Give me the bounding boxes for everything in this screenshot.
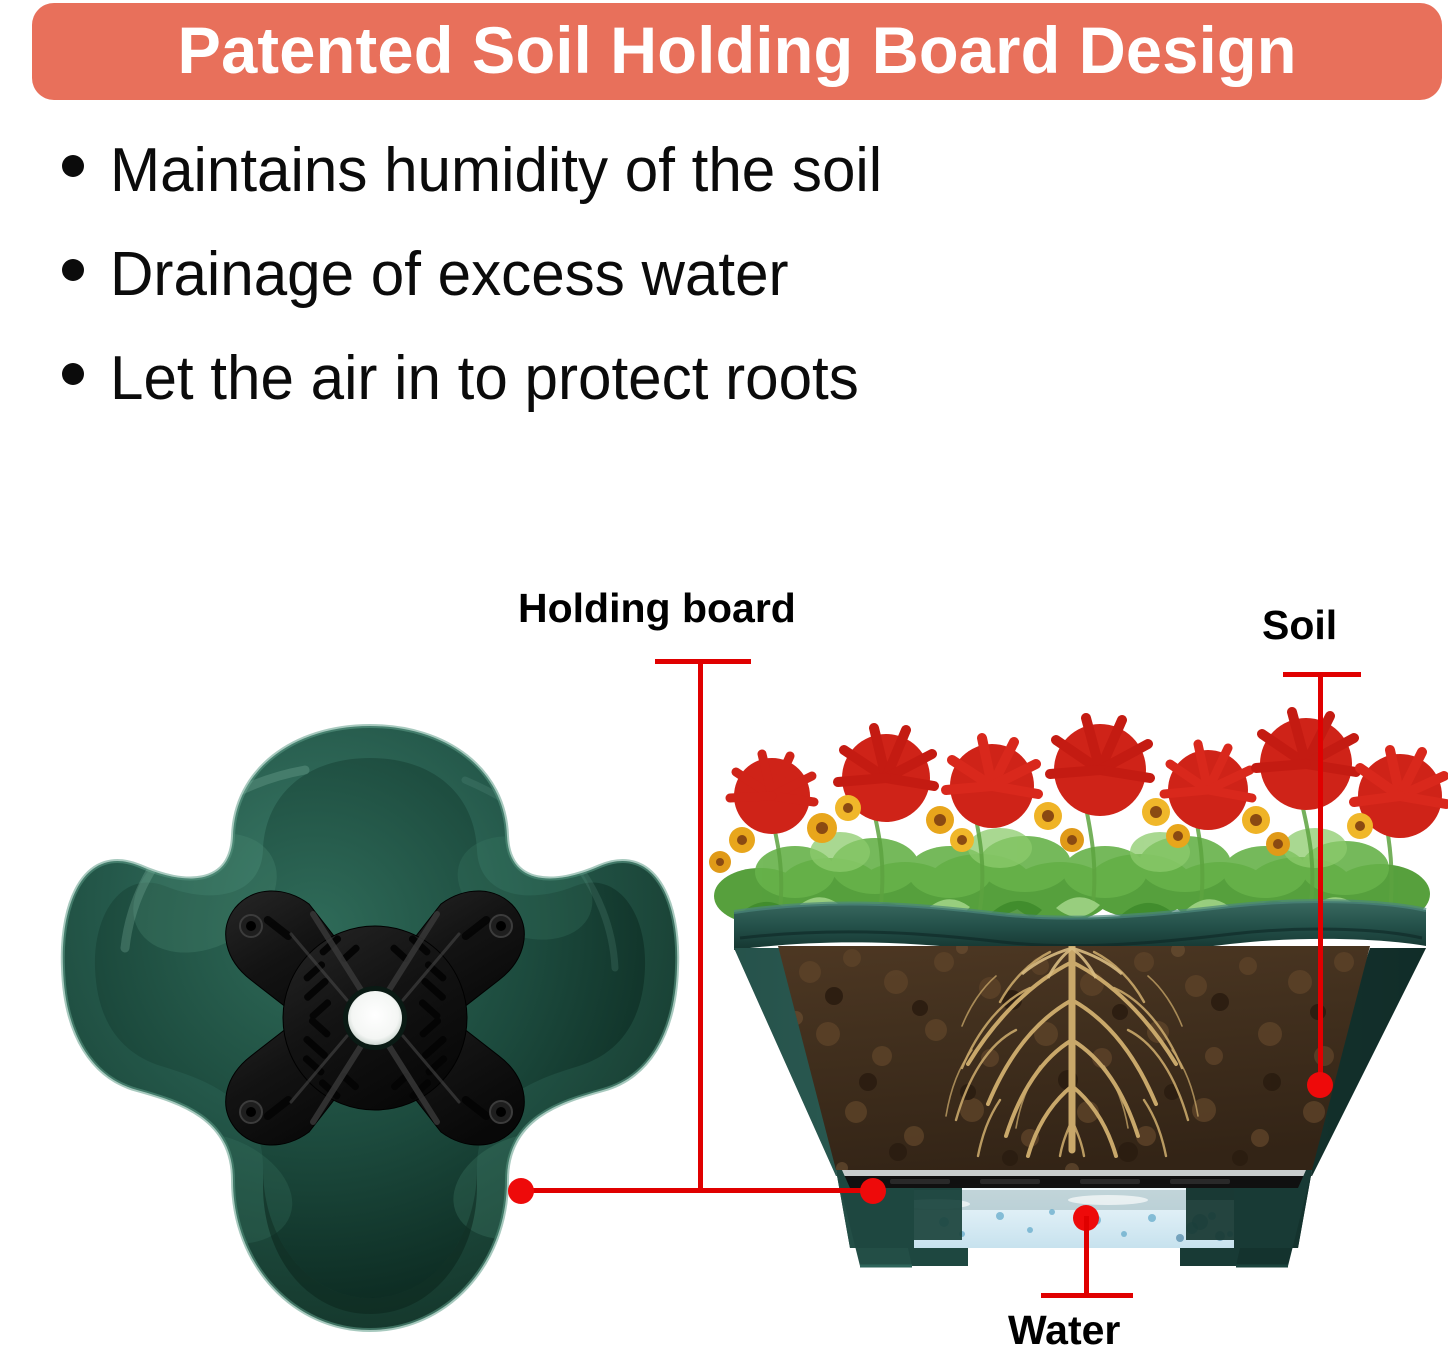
feature-label: Maintains humidity of the soil <box>110 140 882 202</box>
header-banner: Patented Soil Holding Board Design <box>32 3 1442 100</box>
soil-layer <box>770 940 1382 1180</box>
holding-board-leader-tbar <box>655 659 751 664</box>
holding-board-marker-left <box>508 1178 534 1204</box>
feature-list: Maintains humidity of the soil Drainage … <box>0 140 1448 452</box>
infographic-root: Patented Soil Holding Board Design Maint… <box>0 0 1448 1361</box>
bullet-dot-icon <box>62 259 84 281</box>
feature-list-item: Drainage of excess water <box>0 244 1448 348</box>
holding-board-leader-vertical <box>698 659 703 1191</box>
banner-title: Patented Soil Holding Board Design <box>177 17 1296 87</box>
green-clover-planter-image <box>55 718 685 1346</box>
water-leader-tbar <box>1041 1293 1133 1298</box>
soil-leader-vertical <box>1318 672 1323 1080</box>
bullet-dot-icon <box>62 363 84 385</box>
drainage-hole <box>343 986 407 1050</box>
bullet-dot-icon <box>62 155 84 177</box>
feature-label: Drainage of excess water <box>110 244 789 306</box>
soil-marker <box>1307 1072 1333 1098</box>
label-soil: Soil <box>1262 605 1337 646</box>
label-water: Water <box>1008 1310 1120 1351</box>
holding-board-leader-horizontal <box>520 1188 872 1193</box>
flower-bed <box>709 712 1446 926</box>
feature-list-item: Maintains humidity of the soil <box>0 140 1448 244</box>
label-holding-board: Holding board <box>518 588 796 629</box>
planter-cross-section-image <box>700 700 1448 1280</box>
holding-board-marker-right <box>860 1178 886 1204</box>
feature-list-item: Let the air in to protect roots <box>0 348 1448 452</box>
water-leader-vertical <box>1084 1216 1089 1298</box>
feature-label: Let the air in to protect roots <box>110 348 859 410</box>
